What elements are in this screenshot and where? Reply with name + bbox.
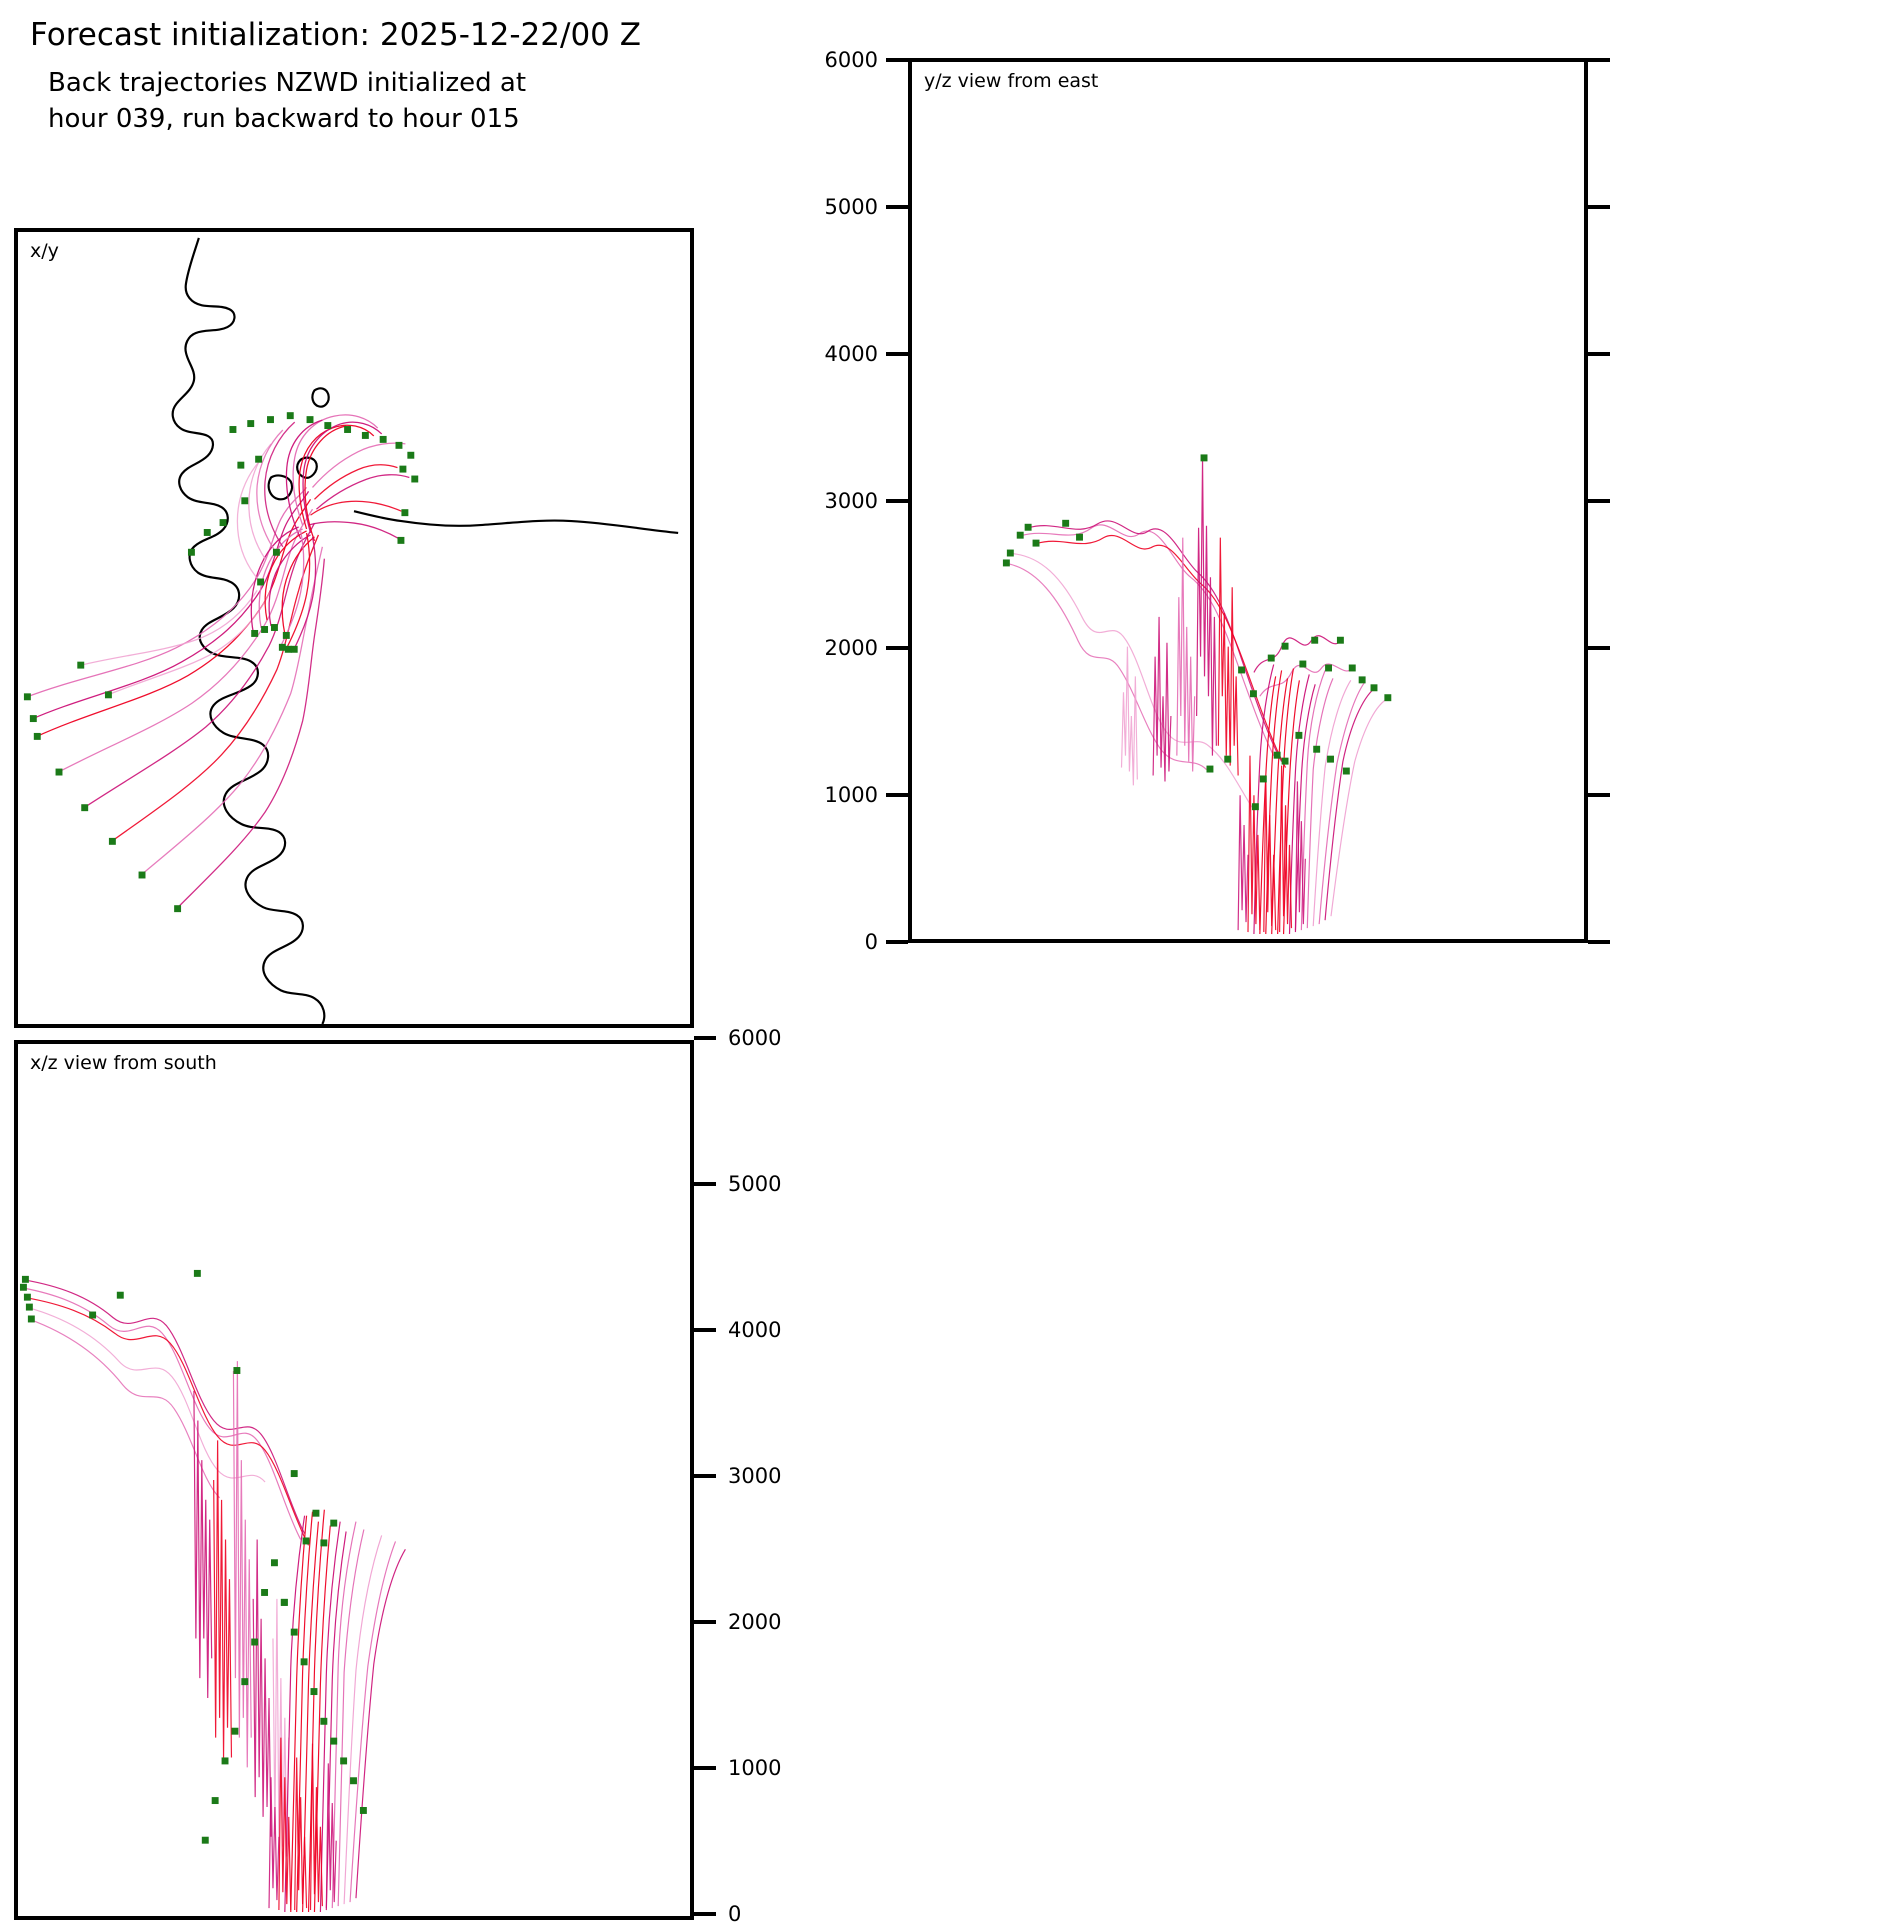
panel-xz-cross-section: x/z view from south (14, 1040, 694, 1920)
trajectory-endpoints-xy (24, 412, 418, 912)
yz-tick-label-3000: 3000 (825, 489, 878, 513)
trajectory-endpoints-xz (20, 1270, 367, 1844)
yz-right-tick-5000 (1588, 205, 1610, 209)
xz-tick-label-1000: 1000 (728, 1756, 781, 1780)
xz-tick-4000 (694, 1328, 716, 1332)
yz-tick-3000 (886, 499, 908, 503)
yz-tick-label-0: 0 (865, 930, 878, 954)
yz-tick-0 (886, 940, 908, 944)
xz-tick-label-6000: 6000 (728, 1026, 781, 1050)
yz-tick-1000 (886, 793, 908, 797)
yz-right-tick-0 (1588, 940, 1610, 944)
xz-tick-1000 (694, 1766, 716, 1770)
xz-axis-right: 6000 5000 4000 3000 2000 1000 0 (694, 1040, 814, 1920)
yz-axis-right (1588, 58, 1614, 943)
page-title: Forecast initialization: 2025-12-22/00 Z (30, 18, 641, 54)
xz-tick-label-5000: 5000 (728, 1172, 781, 1196)
coastline-path (173, 238, 678, 1024)
page-subtitle-line1: Back trajectories NZWD initialized at (48, 66, 641, 100)
panel-yz-label: y/z view from east (924, 70, 1098, 92)
yz-tick-label-4000: 4000 (825, 342, 878, 366)
xz-tick-0 (694, 1912, 716, 1916)
xz-tick-5000 (694, 1182, 716, 1186)
yz-right-tick-3000 (1588, 499, 1610, 503)
xz-tick-6000 (694, 1036, 716, 1040)
panel-xy-map: x/y (14, 228, 694, 1028)
panel-yz-cross-section: y/z view from east (908, 58, 1588, 943)
xz-tick-label-3000: 3000 (728, 1464, 781, 1488)
xz-tick-label-0: 0 (728, 1902, 741, 1926)
yz-tick-2000 (886, 646, 908, 650)
trajectory-lines-yz (1007, 458, 1388, 934)
panel-xz-label: x/z view from south (30, 1052, 217, 1074)
yz-axis-left: 6000 5000 4000 3000 2000 1000 0 (836, 58, 908, 943)
yz-right-tick-6000 (1588, 58, 1610, 62)
yz-tick-6000 (886, 58, 908, 62)
xy-plot-svg (18, 232, 690, 1024)
yz-right-tick-4000 (1588, 352, 1610, 356)
xz-plot-svg (18, 1044, 690, 1916)
xz-tick-label-2000: 2000 (728, 1610, 781, 1634)
yz-tick-label-6000: 6000 (825, 48, 878, 72)
yz-tick-5000 (886, 205, 908, 209)
yz-tick-label-5000: 5000 (825, 195, 878, 219)
xz-tick-label-4000: 4000 (728, 1318, 781, 1342)
panel-xy-label: x/y (30, 240, 59, 262)
yz-tick-4000 (886, 352, 908, 356)
trajectory-lines-xz (22, 1280, 405, 1912)
xz-tick-2000 (694, 1620, 716, 1624)
xz-tick-3000 (694, 1474, 716, 1478)
yz-tick-label-2000: 2000 (825, 636, 878, 660)
yz-plot-svg (912, 62, 1584, 939)
title-block: Forecast initialization: 2025-12-22/00 Z… (30, 18, 641, 136)
page-subtitle-line2: hour 039, run backward to hour 015 (48, 102, 641, 136)
yz-right-tick-2000 (1588, 646, 1610, 650)
yz-tick-label-1000: 1000 (825, 783, 878, 807)
yz-right-tick-1000 (1588, 793, 1610, 797)
